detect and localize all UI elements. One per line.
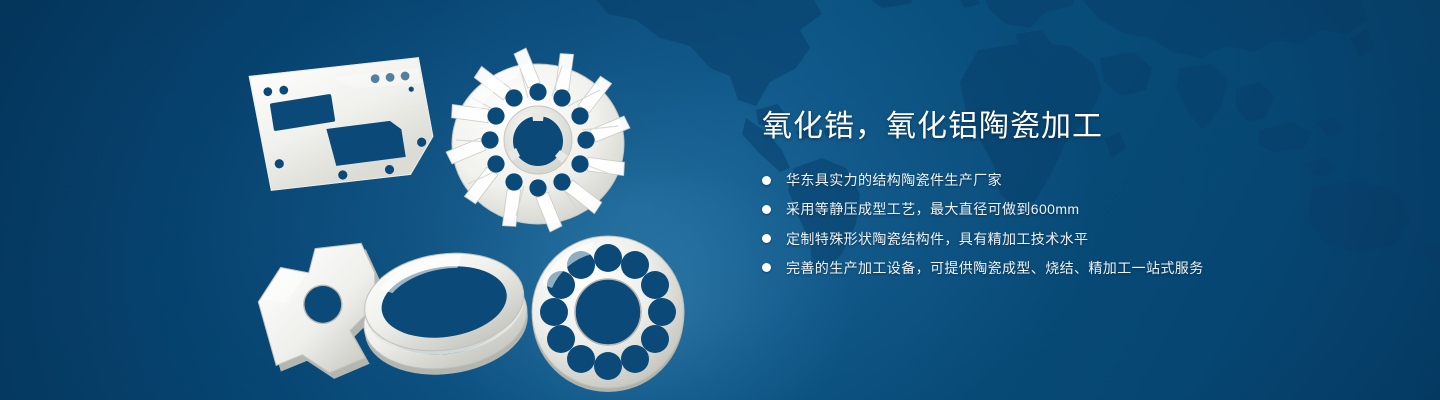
feature-text: 定制特殊形状陶瓷结构件，具有精加工技术水平: [786, 230, 1088, 248]
list-item: 定制特殊形状陶瓷结构件，具有精加工技术水平: [762, 230, 1362, 248]
promo-banner: 氧化锆，氧化铝陶瓷加工 华东具实力的结构陶瓷件生产厂家 采用等静压成型工艺，最大…: [0, 0, 1440, 400]
bullet-dot-icon: [762, 234, 771, 243]
banner-text-content: 氧化锆，氧化铝陶瓷加工 华东具实力的结构陶瓷件生产厂家 采用等静压成型工艺，最大…: [762, 108, 1362, 288]
bullet-dot-icon: [762, 263, 771, 272]
ceramic-perforated-flange: [518, 220, 698, 400]
bullet-dot-icon: [762, 176, 771, 185]
list-item: 完善的生产加工设备，可提供陶瓷成型、烧结、精加工一站式服务: [762, 259, 1362, 277]
feature-text: 采用等静压成型工艺，最大直径可做到600mm: [786, 200, 1079, 218]
feature-text: 完善的生产加工设备，可提供陶瓷成型、烧结、精加工一站式服务: [786, 259, 1204, 277]
feature-text: 华东具实力的结构陶瓷件生产厂家: [786, 171, 1002, 189]
list-item: 采用等静压成型工艺，最大直径可做到600mm: [762, 200, 1362, 218]
ceramic-rings: [350, 220, 540, 395]
list-item: 华东具实力的结构陶瓷件生产厂家: [762, 171, 1362, 189]
ceramic-products-group: [230, 40, 720, 380]
ceramic-impeller-disc: [438, 40, 638, 245]
page-title: 氧化锆，氧化铝陶瓷加工: [762, 108, 1362, 145]
feature-list: 华东具实力的结构陶瓷件生产厂家 采用等静压成型工艺，最大直径可做到600mm 定…: [762, 171, 1362, 277]
bullet-dot-icon: [762, 205, 771, 214]
ceramic-plate-with-cutouts: [240, 50, 450, 205]
